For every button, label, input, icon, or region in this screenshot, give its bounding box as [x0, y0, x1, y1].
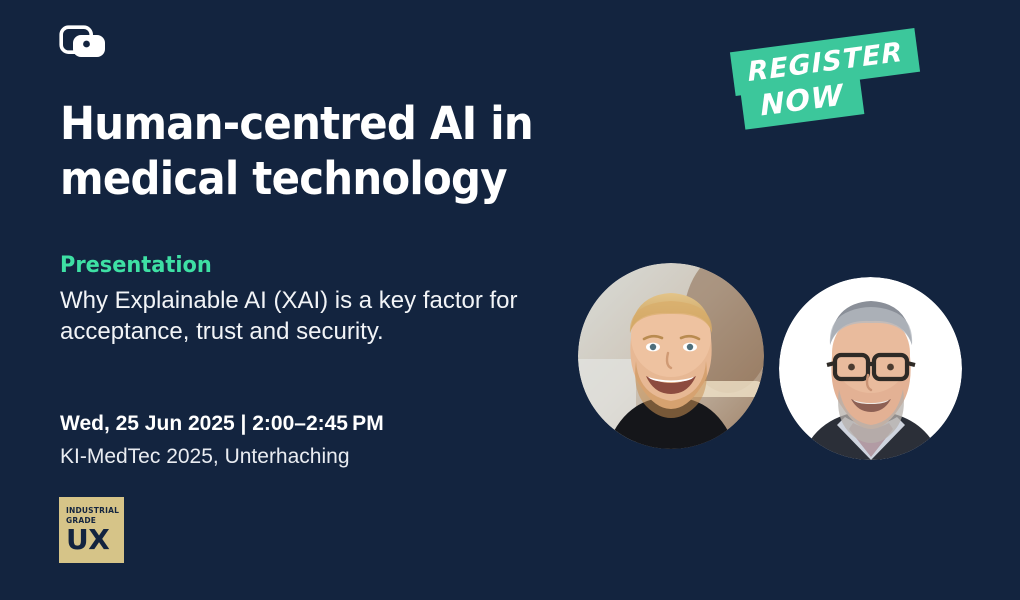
ux-badge-line1: INDUSTRIAL [66, 506, 119, 516]
content-block: Human-centred AI in medical technology P… [60, 96, 660, 470]
speaker-photo-right [779, 277, 962, 460]
register-now-badge[interactable]: REGISTER NOW [722, 14, 922, 134]
speech-bubbles-logo [59, 25, 111, 63]
ux-badge-wordmark: UX [66, 526, 109, 554]
session-type-label: Presentation [60, 252, 630, 280]
speaker-photo-left [578, 263, 764, 449]
page-title: Human-centred AI in medical technology [60, 96, 618, 206]
session-description: Why Explainable AI (XAI) is a key factor… [60, 285, 590, 347]
register-badge-line2: NOW [760, 80, 845, 120]
event-venue: KI-MedTec 2025, Unterhaching [60, 443, 660, 470]
event-promo-poster: REGISTER NOW Human-centred AI in medical… [0, 0, 1020, 600]
industrial-grade-ux-badge: INDUSTRIAL GRADE UX [59, 497, 124, 563]
event-datetime: Wed, 25 Jun 2025 | 2:00–2:45 PM [60, 410, 660, 437]
